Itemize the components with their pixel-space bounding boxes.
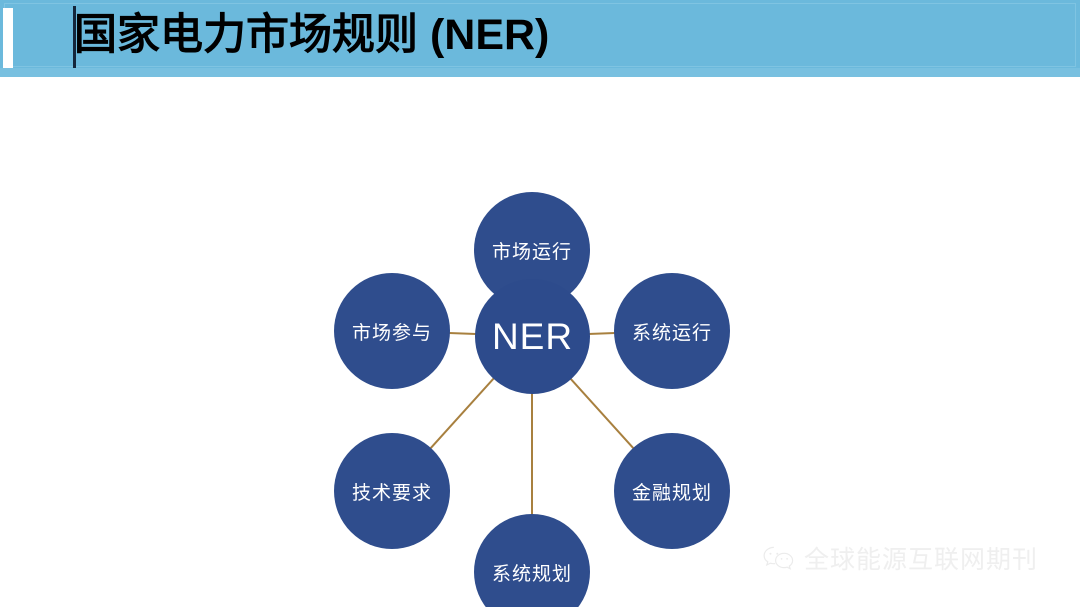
wechat-icon [762, 544, 796, 572]
node-system-operation[interactable]: 系统运行 [614, 273, 730, 389]
node-label: 市场参与 [352, 318, 432, 345]
slide-canvas: 国家电力市场规则 (NER) 市场运行 系统运行 金融规划 系统规划 技术要求 … [0, 0, 1080, 607]
node-label: 技术要求 [352, 478, 432, 505]
node-label: 系统运行 [632, 318, 712, 345]
hub-and-spoke-diagram: 市场运行 系统运行 金融规划 系统规划 技术要求 市场参与 NER [0, 77, 1080, 607]
header-bottom-band [0, 68, 1080, 77]
slide-header-bar: 国家电力市场规则 (NER) [0, 0, 1080, 77]
header-accent-white-bar [3, 8, 13, 68]
node-financial-planning[interactable]: 金融规划 [614, 433, 730, 549]
node-market-participation[interactable]: 市场参与 [334, 273, 450, 389]
node-label: 市场运行 [492, 237, 572, 264]
connector-line-market-participation [449, 333, 476, 334]
watermark: 全球能源互联网期刊 [762, 540, 1038, 576]
node-label: 系统规划 [492, 559, 572, 586]
node-label: 金融规划 [632, 478, 712, 505]
node-center-label: NER [492, 316, 573, 358]
node-center-ner[interactable]: NER [475, 279, 590, 394]
connector-line-financial-planning [570, 378, 634, 449]
node-technical-requirements[interactable]: 技术要求 [334, 433, 450, 549]
page-title: 国家电力市场规则 (NER) [74, 4, 549, 68]
watermark-text: 全球能源互联网期刊 [804, 540, 1038, 576]
connector-line-system-operation [588, 333, 615, 334]
connector-line-technical-requirements [430, 378, 494, 449]
